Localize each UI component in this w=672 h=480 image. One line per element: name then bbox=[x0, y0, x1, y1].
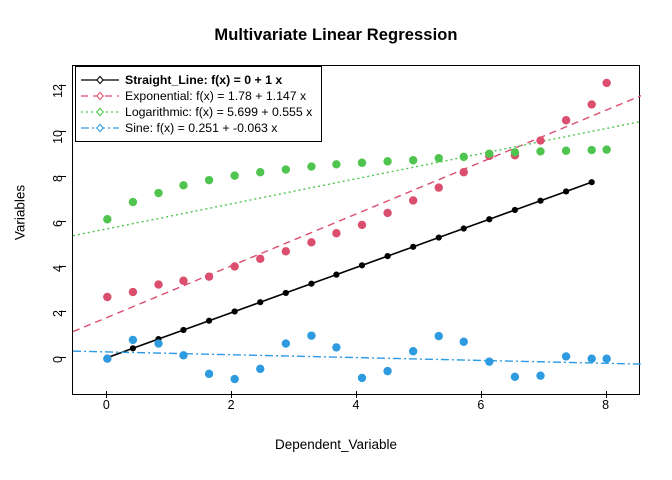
data-point bbox=[537, 198, 543, 204]
data-point bbox=[536, 371, 544, 379]
data-point bbox=[230, 262, 238, 270]
data-point bbox=[130, 345, 136, 351]
data-point bbox=[230, 375, 238, 383]
data-point bbox=[602, 145, 610, 153]
x-tick-mark bbox=[231, 391, 232, 398]
data-point bbox=[485, 357, 493, 365]
data-point bbox=[256, 255, 264, 263]
data-point bbox=[129, 198, 137, 206]
data-point bbox=[602, 79, 610, 87]
data-point bbox=[333, 272, 339, 278]
y-tick-label: 2 bbox=[51, 310, 65, 340]
data-point bbox=[587, 146, 595, 154]
data-point bbox=[383, 367, 391, 375]
data-point bbox=[179, 181, 187, 189]
legend: Straight_Line: f(x) = 0 + 1 xExponential… bbox=[75, 66, 322, 142]
data-point bbox=[536, 147, 544, 155]
data-point bbox=[103, 355, 111, 363]
y-tick-label: 0 bbox=[51, 356, 65, 386]
x-axis-tick-labels: 02468 bbox=[72, 398, 640, 420]
legend-item-label: Straight_Line: f(x) = 0 + 1 x bbox=[119, 73, 282, 87]
data-point bbox=[436, 234, 442, 240]
legend-item-logarithmic[interactable]: Logarithmic: f(x) = 5.699 + 0.555 x bbox=[81, 104, 312, 120]
data-point bbox=[536, 136, 544, 144]
x-tick-mark bbox=[106, 391, 107, 398]
data-point bbox=[307, 162, 315, 170]
x-tick-label: 2 bbox=[228, 398, 235, 412]
data-point bbox=[358, 221, 366, 229]
data-point bbox=[563, 188, 569, 194]
data-point bbox=[384, 253, 390, 259]
data-point bbox=[206, 318, 212, 324]
series-line-straight_line bbox=[107, 182, 591, 357]
x-tick-mark bbox=[356, 391, 357, 398]
data-point bbox=[308, 281, 314, 287]
series-fit-sine bbox=[73, 351, 641, 364]
data-point bbox=[562, 147, 570, 155]
data-point bbox=[307, 238, 315, 246]
y-tick-label: 4 bbox=[51, 265, 65, 295]
data-point bbox=[587, 100, 595, 108]
data-point bbox=[129, 336, 137, 344]
data-point bbox=[383, 209, 391, 217]
data-point bbox=[154, 339, 162, 347]
data-point bbox=[511, 373, 519, 381]
data-point bbox=[410, 244, 416, 250]
data-point bbox=[332, 343, 340, 351]
data-point bbox=[103, 215, 111, 223]
x-tick-mark bbox=[481, 391, 482, 398]
x-tick-label: 8 bbox=[602, 398, 609, 412]
data-point bbox=[359, 262, 365, 268]
legend-item-exponential[interactable]: Exponential: f(x) = 1.78 + 1.147 x bbox=[81, 88, 312, 104]
chart-page: Multivariate Linear Regression 024681012… bbox=[0, 0, 672, 480]
data-point bbox=[435, 183, 443, 191]
data-point bbox=[485, 149, 493, 157]
page-title: Multivariate Linear Regression bbox=[0, 26, 672, 45]
x-tick-label: 4 bbox=[353, 398, 360, 412]
data-point bbox=[461, 225, 467, 231]
data-point bbox=[332, 229, 340, 237]
data-point bbox=[257, 299, 263, 305]
data-point bbox=[256, 365, 264, 373]
data-point bbox=[511, 148, 519, 156]
data-point bbox=[282, 339, 290, 347]
data-point bbox=[486, 216, 492, 222]
data-point bbox=[512, 207, 518, 213]
x-tick-label: 0 bbox=[103, 398, 110, 412]
data-point bbox=[205, 272, 213, 280]
data-point bbox=[154, 280, 162, 288]
data-point bbox=[435, 154, 443, 162]
legend-key-icon bbox=[81, 121, 119, 135]
data-point bbox=[230, 171, 238, 179]
data-point bbox=[154, 189, 162, 197]
x-tick-label: 6 bbox=[477, 398, 484, 412]
data-point bbox=[282, 247, 290, 255]
legend-key-icon bbox=[81, 73, 119, 87]
data-point bbox=[283, 290, 289, 296]
legend-item-label: Sine: f(x) = 0.251 + -0.063 x bbox=[119, 121, 277, 135]
y-axis-title: Variables bbox=[13, 163, 28, 263]
data-point bbox=[256, 168, 264, 176]
legend-item-label: Logarithmic: f(x) = 5.699 + 0.555 x bbox=[119, 105, 312, 119]
data-point bbox=[180, 327, 186, 333]
y-tick-label: 8 bbox=[51, 175, 65, 205]
data-point bbox=[409, 196, 417, 204]
y-tick-label: 6 bbox=[51, 220, 65, 250]
data-point bbox=[129, 288, 137, 296]
legend-item-sine[interactable]: Sine: f(x) = 0.251 + -0.063 x bbox=[81, 120, 312, 136]
data-point bbox=[358, 159, 366, 167]
data-point bbox=[307, 331, 315, 339]
y-tick-label: 12 bbox=[51, 84, 65, 114]
data-point bbox=[282, 165, 290, 173]
y-tick-label: 10 bbox=[51, 130, 65, 160]
legend-item-straight_line[interactable]: Straight_Line: f(x) = 0 + 1 x bbox=[81, 72, 312, 88]
data-point bbox=[460, 338, 468, 346]
legend-key-icon bbox=[81, 89, 119, 103]
data-point bbox=[205, 176, 213, 184]
legend-item-label: Exponential: f(x) = 1.78 + 1.147 x bbox=[119, 89, 306, 103]
data-point bbox=[602, 355, 610, 363]
data-point bbox=[435, 332, 443, 340]
data-point bbox=[179, 351, 187, 359]
data-point bbox=[460, 168, 468, 176]
data-point bbox=[587, 355, 595, 363]
data-point bbox=[562, 352, 570, 360]
data-point bbox=[205, 370, 213, 378]
x-tick-mark bbox=[606, 391, 607, 398]
data-point bbox=[409, 156, 417, 164]
data-point bbox=[409, 347, 417, 355]
data-point bbox=[562, 116, 570, 124]
data-point bbox=[460, 153, 468, 161]
data-point bbox=[358, 374, 366, 382]
data-point bbox=[232, 308, 238, 314]
legend-key-icon bbox=[81, 105, 119, 119]
data-point bbox=[332, 160, 340, 168]
x-axis-title: Dependent_Variable bbox=[0, 437, 672, 452]
data-point bbox=[383, 157, 391, 165]
data-point bbox=[589, 179, 595, 185]
data-point bbox=[179, 277, 187, 285]
data-point bbox=[103, 293, 111, 301]
